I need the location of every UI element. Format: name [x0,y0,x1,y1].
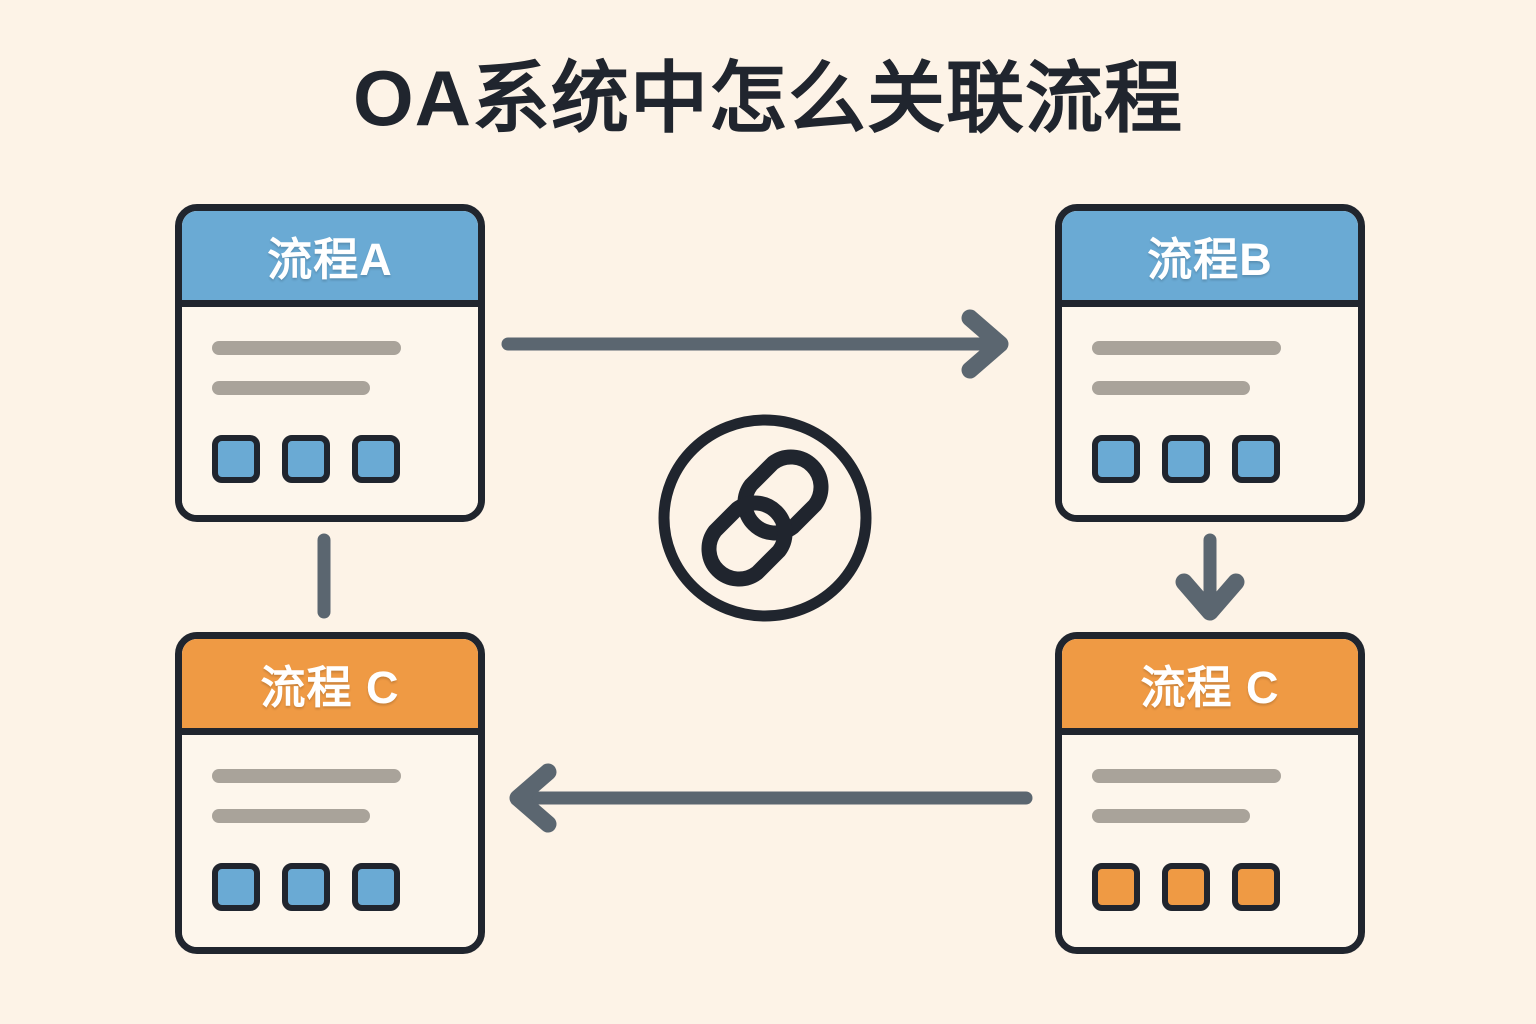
card-line [212,381,370,395]
process-card-process-c-right[interactable]: 流程 C [1055,632,1365,954]
connector-arrowhead [518,772,548,824]
connector-arrowhead [1184,582,1236,612]
card-line [1092,769,1281,783]
card-chip[interactable] [1092,435,1140,483]
link-icon-chain [709,457,821,579]
card-line [1092,381,1250,395]
process-card-process-b[interactable]: 流程B [1055,204,1365,522]
card-chip[interactable] [1232,863,1280,911]
link-icon-circle [664,420,866,616]
card-header-process-c-right: 流程 C [1062,639,1358,735]
card-line-group [212,341,448,421]
card-header-process-b: 流程B [1062,211,1358,307]
link-icon-graphic [655,412,875,624]
card-chip-row [212,863,448,911]
card-line [212,809,370,823]
card-chip[interactable] [352,435,400,483]
page-title: OA系统中怎么关联流程 [0,58,1536,140]
connector-b-to-c-right [1184,540,1236,612]
card-title-process-b: 流程B [1147,223,1273,288]
card-body [1062,307,1358,515]
process-card-process-c-left[interactable]: 流程 C [175,632,485,954]
card-chip-row [212,435,448,483]
card-line-group [212,769,448,849]
card-header-process-a: 流程A [182,211,478,307]
card-body [182,735,478,947]
card-line-group [1092,341,1328,421]
connector-a-to-b [508,318,1000,370]
card-header-process-c-left: 流程 C [182,639,478,735]
card-chip[interactable] [282,863,330,911]
card-line [212,769,401,783]
card-line [212,341,401,355]
card-chip-row [1092,863,1328,911]
process-card-process-a[interactable]: 流程A [175,204,485,522]
card-chip[interactable] [282,435,330,483]
card-line [1092,341,1281,355]
card-body [1062,735,1358,947]
card-line-group [1092,769,1328,849]
card-title-process-c-left: 流程 C [260,651,399,716]
card-body [182,307,478,515]
card-title-process-a: 流程A [267,223,393,288]
connector-arrowhead [970,318,1000,370]
card-chip-row [1092,435,1328,483]
card-chip[interactable] [212,435,260,483]
link-icon [655,412,875,624]
card-chip[interactable] [1232,435,1280,483]
card-line [1092,809,1250,823]
card-chip[interactable] [1092,863,1140,911]
card-chip[interactable] [1162,435,1210,483]
connector-c-right-to-c-left [518,772,1026,824]
card-chip[interactable] [212,863,260,911]
card-title-process-c-right: 流程 C [1140,651,1279,716]
card-chip[interactable] [352,863,400,911]
card-chip[interactable] [1162,863,1210,911]
